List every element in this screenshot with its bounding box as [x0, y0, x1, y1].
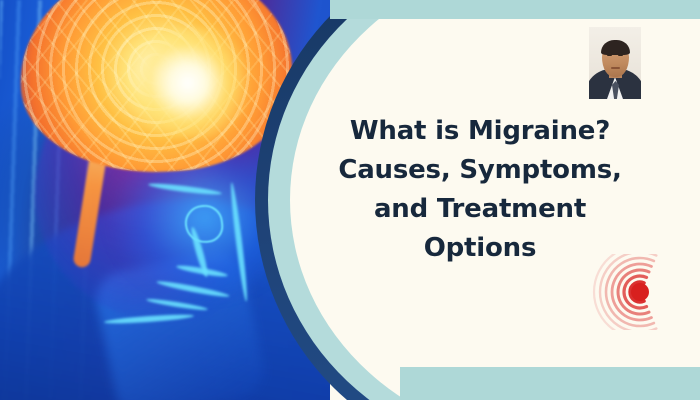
red-pulse-logo-svg — [584, 254, 658, 330]
red-pulse-logo — [584, 254, 658, 330]
brain-pain-hotspot — [128, 28, 248, 138]
red-pulse-dot — [631, 283, 649, 301]
avatar-mouth — [611, 67, 620, 69]
banner-graphic: What is Migraine? Causes, Symptoms, and … — [0, 0, 700, 400]
avatar-hair — [601, 40, 630, 55]
avatar-eye-left — [607, 54, 612, 56]
teal-band-top — [330, 0, 700, 19]
title-line-2: Causes, Symptoms, — [315, 151, 645, 190]
teal-band-bottom — [400, 367, 700, 400]
avatar-eye-right — [618, 54, 623, 56]
page-title: What is Migraine? Causes, Symptoms, and … — [315, 112, 645, 268]
title-line-3: and Treatment — [315, 190, 645, 229]
author-headshot — [589, 27, 641, 99]
title-line-1: What is Migraine? — [315, 112, 645, 151]
